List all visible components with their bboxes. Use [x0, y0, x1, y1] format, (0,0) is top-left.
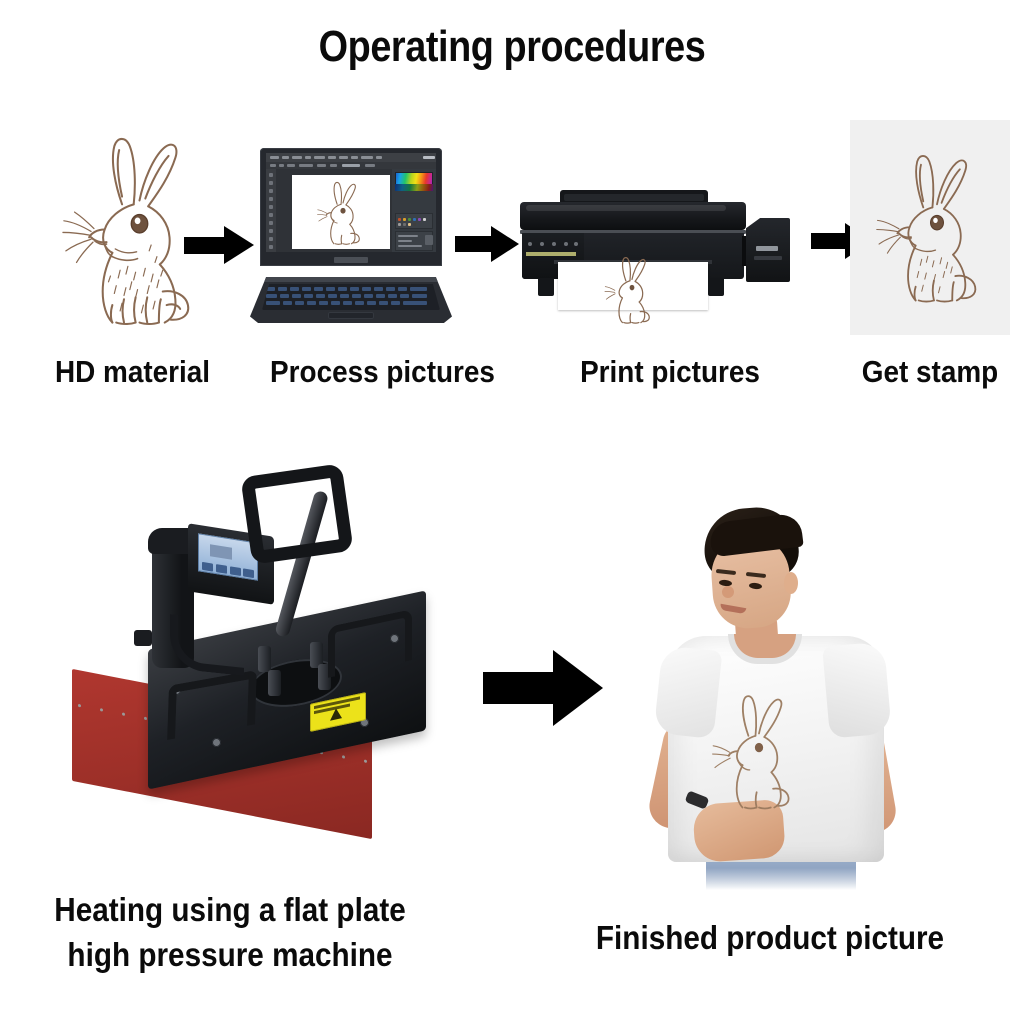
step-5-label-line1: Heating using a flat plate [28, 888, 433, 933]
adjustments-panel [395, 231, 433, 251]
step-2-label: Process pictures [259, 354, 507, 390]
model-right-sleeve [822, 641, 892, 738]
step-3-printer [508, 190, 798, 335]
model-nose [722, 586, 734, 598]
printer-button-5[interactable] [574, 242, 578, 246]
step-4-stamp-panel [850, 120, 1010, 335]
printer-foot-left [538, 278, 554, 296]
printer-tank-slot [754, 256, 782, 260]
arrow-1-icon [184, 225, 254, 265]
stamp-rabbit-artwork [876, 142, 998, 314]
step-3-label: Print pictures [558, 354, 783, 390]
warning-triangle-icon [330, 707, 342, 721]
printer-button-2[interactable] [540, 242, 544, 246]
tshirt-rabbit-print [712, 690, 806, 818]
laptop-touchpad [328, 312, 374, 319]
laptop-screen [266, 153, 436, 252]
step-6-model-photo [650, 502, 902, 894]
editor-tool-strip [266, 169, 276, 252]
printer-output-sheet [558, 262, 708, 310]
platen-bolt-bl [212, 738, 221, 747]
page-title: Operating procedures [72, 22, 953, 72]
printed-rabbit-artwork [602, 254, 662, 326]
laptop-base [250, 277, 452, 323]
step-4-label: Get stamp [831, 354, 1024, 390]
laptop-brand-logo [334, 257, 368, 263]
printer-brand-label [756, 246, 778, 251]
editor-right-panel [392, 169, 436, 252]
platen-post-1 [258, 646, 271, 672]
photo-bottom-fade [650, 868, 902, 894]
platen-post-3 [268, 670, 281, 696]
printer-button-3[interactable] [552, 242, 556, 246]
laptop-keyboard [262, 284, 440, 310]
printer-power-button[interactable] [528, 242, 532, 246]
model-ear [784, 572, 798, 594]
press-adjust-knob[interactable] [134, 630, 152, 646]
step-2-laptop [250, 148, 452, 323]
press-lever-handle[interactable] [240, 463, 353, 564]
laptop-lid [260, 148, 442, 266]
arrow-4-icon [483, 650, 608, 728]
color-picker-gradient [395, 172, 433, 191]
editor-menu-bar [266, 153, 436, 162]
step-5-heat-press [60, 470, 460, 870]
printer-indicator-strip [526, 252, 576, 256]
editor-options-bar [266, 162, 436, 169]
printer-foot-right [708, 278, 724, 296]
printer-button-4[interactable] [564, 242, 568, 246]
step-1-label: HD material [22, 354, 243, 390]
infographic-page: Operating procedures [0, 0, 1024, 1024]
canvas-rabbit-artwork [316, 179, 370, 247]
step-5-label-line2: high pressure machine [28, 933, 433, 978]
laptop-hinge [264, 277, 438, 282]
editor-canvas [292, 175, 390, 249]
printer-lid-highlight [526, 205, 726, 211]
step-6-label: Finished product picture [568, 916, 973, 961]
swatches-panel [395, 213, 433, 229]
